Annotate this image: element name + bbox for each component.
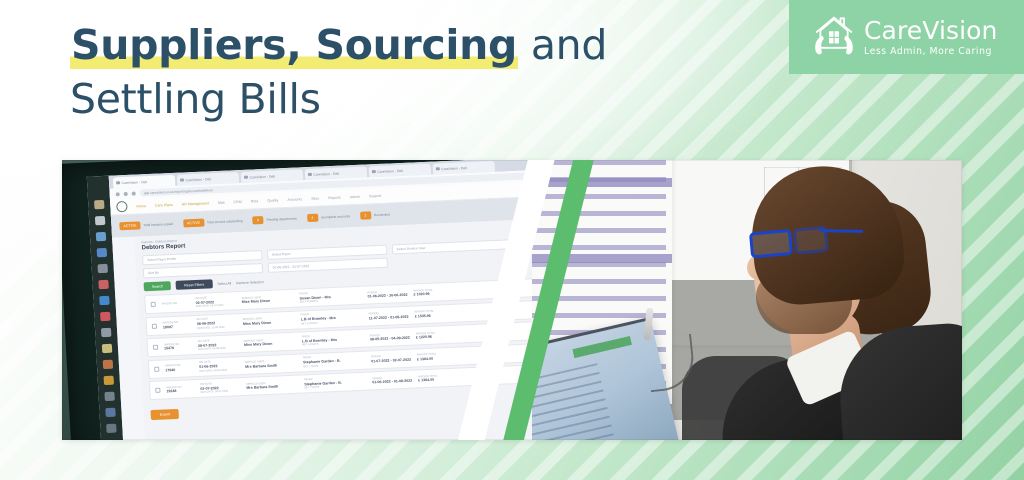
nav-item-hr[interactable]: HR Management [182,201,209,206]
reload-icon[interactable] [124,191,128,195]
kpi-badge: 4 [307,214,318,222]
report-body: Reports › Debtors Report Debtors Report … [134,215,582,440]
glasses-lens-left [749,229,793,259]
tab-label: CareVision - Deb [441,166,467,171]
nav-item-support[interactable]: Support [369,193,382,198]
cell-total: £ 1364.00 [418,377,458,383]
row-checkbox[interactable] [154,366,159,371]
tablet-green-highlight [573,336,632,358]
tab-favicon-icon [244,175,248,179]
monitor-bezel: CareVision - Deb CareVision - Deb CareVi… [62,160,582,440]
cell-period: 01-07-2022 - 02-07-2022 [371,358,411,364]
tab-favicon-icon [308,173,312,177]
cell-invoice-no: 19248 [166,389,194,394]
brand-tagline: Less Admin, More Caring [864,47,998,56]
brand-name: CareVision [864,18,998,43]
nav-item-home[interactable]: Home [136,204,146,208]
person-at-desk [744,166,962,440]
cell-service-user: Miss Mary Dixon [243,320,295,326]
taskbar-icon-user[interactable] [94,200,104,209]
row-checkbox[interactable] [151,302,156,307]
lock-icon [132,191,136,195]
kpi-badge: 2 [360,211,371,219]
cell-service-user: Miss Mary Dixon [244,341,296,347]
taskbar-icon-mail[interactable] [96,232,106,241]
cell-due-date: DUE DATE: 15-06-2022 [197,325,237,330]
sort-by-select[interactable]: Sort By [143,263,263,278]
page-title: Suppliers, Sourcing and Settling Bills [70,22,607,124]
row-checkbox[interactable] [153,345,158,350]
cell-total: £ 1364.00 [417,356,457,362]
select-all-link[interactable]: Select All [217,281,231,286]
kpi-badge: 9 [252,216,263,224]
cell-period: 11-07-2022 - 01-08-2022 [369,315,409,321]
nav-item-accounts[interactable]: Accounts [287,197,302,202]
title-highlighted-text: Suppliers, Sourcing [70,21,518,69]
brand-logo-band: CareVision Less Admin, More Caring [789,0,1024,74]
nav-item-care-plans[interactable]: Care Plans [155,202,173,207]
kpi-label: Total invoices unpaid [143,222,173,228]
cell-due-date: DUE DATE: 09-07-2022 [196,304,236,309]
cell-due-date: DUE DATE: 04-08-2022 [198,347,238,352]
title-line-1-rest: and [518,21,607,69]
house-in-hands-icon [811,14,857,60]
tab-label: CareVision - Deb [185,177,211,182]
kpi-label: Incomplete accounts [321,214,350,220]
cell-service-user: Mrs Barbara Smith [245,363,297,369]
tablet-content-lines [532,364,615,440]
row-checkbox[interactable] [155,388,160,393]
taskbar-icon-lock[interactable] [102,344,112,353]
back-arrow-icon[interactable] [116,192,120,196]
taskbar-icon-store[interactable] [105,408,115,417]
kpi-label: Total amount outstanding [207,219,243,225]
taskbar-icon-grid[interactable] [97,264,107,273]
cell-period: 08-05-2022 - 04-09-2022 [370,336,410,342]
hero-photo-strip: CareVision - Deb CareVision - Deb CareVi… [62,160,962,440]
kpi-label: Reconciled [374,212,390,217]
taskbar-icon-browser[interactable] [99,296,109,305]
cell-service-user: Miss Mary Dixon [242,298,294,304]
cell-due-date: DUE DATE: 09-07-2022 [200,389,240,394]
kpi-label: Pending departments [266,216,297,222]
nav-item-quality[interactable]: Quality [267,198,278,202]
title-line-2: Settling Bills [70,76,607,124]
cell-total: £ 1020.96 [413,291,453,297]
spreadsheet-header-band [532,254,672,263]
photo-office-panel [532,160,962,440]
nav-item-crm[interactable]: CRM [233,199,241,203]
taskbar-icon-notes[interactable] [98,280,108,289]
taskbar-icon-app[interactable] [104,392,114,401]
banner: Suppliers, Sourcing and Settling Bills [0,0,1024,480]
taskbar-icon-chat[interactable] [97,248,107,257]
cell-invoice-no: 18097 [163,324,191,329]
tab-favicon-icon [372,170,376,174]
tab-favicon-icon [436,167,440,171]
cell-total: £ 1535.96 [415,313,455,319]
nav-item-mail[interactable]: Mail [218,200,225,204]
kpi-badge: ACTIVE [119,221,140,230]
kpi-badge: ACTIVE [183,219,204,228]
cell-period: 01-06-2022 - 30-06-2022 [368,293,408,299]
taskbar-icon-warning[interactable] [104,376,114,385]
export-button[interactable]: Export [150,408,179,419]
search-button[interactable]: Search [144,281,172,291]
cell-period: 01-06-2022 - 01-08-2022 [372,379,412,385]
cell-header: INVOICE NO. [162,301,190,305]
taskbar-icon-tools[interactable] [101,328,111,337]
reset-filters-button[interactable]: Reset Filters [176,279,213,290]
kpi-card[interactable]: ACTIVE Total invoices unpaid [119,220,173,230]
tab-label: CareVision - Deb [249,174,275,179]
kpi-card[interactable]: ACTIVE Total amount outstanding [183,217,243,228]
tab-favicon-icon [180,178,184,182]
cell-total: £ 1220.96 [416,334,456,340]
tab-label: CareVision - Deb [313,171,339,176]
web-browser: CareVision - Deb CareVision - Deb CareVi… [109,160,582,440]
kpi-card[interactable]: 4 Incomplete accounts [307,212,351,222]
monitor-screen: CareVision - Deb CareVision - Deb CareVi… [87,160,582,440]
taskbar-icon-media[interactable] [103,360,113,369]
nav-item-rota[interactable]: Rota [251,199,259,203]
kpi-card[interactable]: 9 Pending departments [252,215,297,225]
row-checkbox[interactable] [152,323,157,328]
taskbar-icon-files[interactable] [95,216,105,225]
title-line-1: Suppliers, Sourcing and [70,22,607,70]
kpi-card[interactable]: 2 Reconciled [360,210,390,219]
tab-label: CareVision - Deb [377,168,403,173]
app-logo-icon [116,201,128,212]
cell-service-user: Mrs Barbara Smith [246,384,298,390]
brand-logo[interactable]: CareVision Less Admin, More Caring [811,14,998,60]
remove-selection-link[interactable]: Remove Selection [236,280,264,285]
spreadsheet-header-band [532,178,672,187]
nav-item-sites[interactable]: Sites [311,196,319,200]
cell-due-date: DUE DATE: 08-06-2022 [199,368,239,373]
taskbar-icon-settings[interactable] [106,424,116,433]
photo-monitor-panel: CareVision - Deb CareVision - Deb CareVi… [62,160,582,440]
taskbar-icon-heart[interactable] [100,312,110,321]
nav-item-reports[interactable]: Reports [328,195,341,200]
tab-favicon-icon [116,181,120,185]
tab-label: CareVision - Deb [121,180,147,185]
cell-invoice-no: 17940 [165,367,193,372]
cell-invoice-no: 15476 [164,346,192,351]
date-range-input[interactable]: 01-06-2022 - 01-07-2022 [267,258,387,273]
nav-item-admin[interactable]: Admin [350,194,360,198]
